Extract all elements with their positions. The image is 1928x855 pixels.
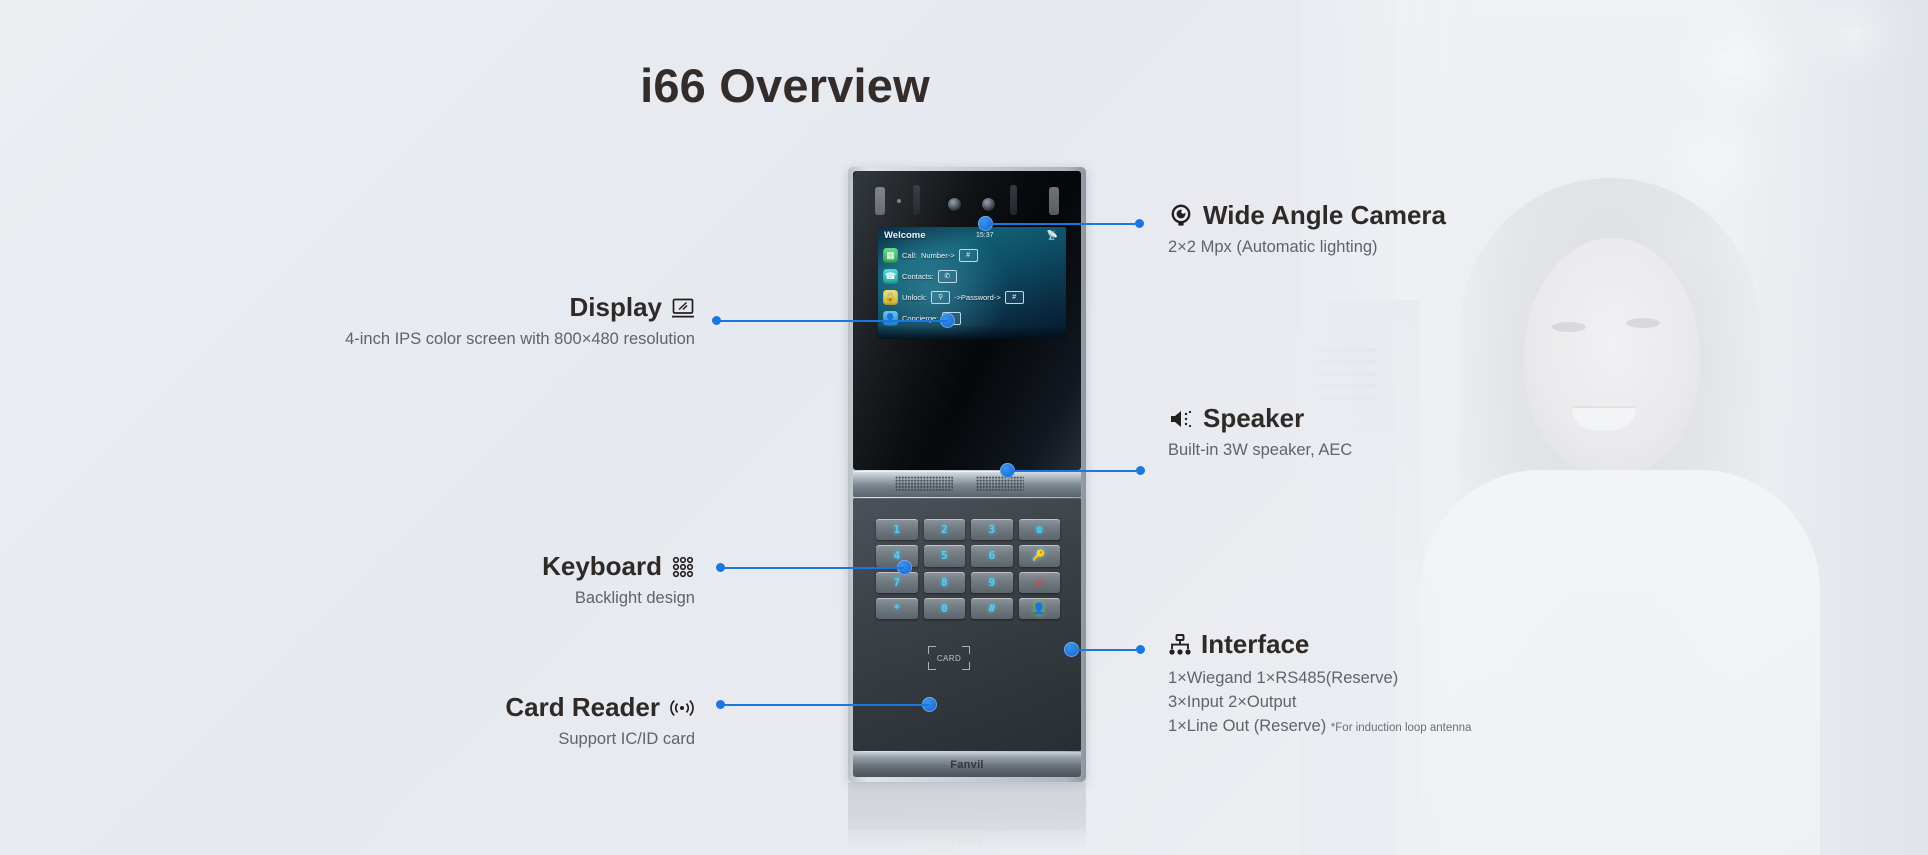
screen-row-label: Contacts: [902,272,934,281]
callout-title: Keyboard [542,551,662,582]
connector-keyboard [722,567,904,569]
sensor-bar [853,177,1081,223]
screen-time: 15:37 [976,232,994,239]
callout-title: Card Reader [505,692,660,723]
device-lower-body: 1 2 3 ☎ 4 5 6 🔑 7 8 9 ↩ * 0 # 👤 CARD [853,498,1081,751]
page-title: i66 Overview [0,58,1570,113]
screen-row-contacts: ☎ Contacts: ✆ [883,266,957,286]
keypad-key-concierge-icon[interactable]: 👤 [1019,598,1061,619]
screen-key-phone: ✆ [938,270,957,283]
callout-subtitle: 2×2 Mpx (Automatic lighting) [1168,238,1446,257]
device-reflection: Fanvil [848,782,1086,855]
dialpad-icon: ▦ [883,248,898,263]
callout-subtitle: Built-in 3W speaker, AEC [1168,441,1352,460]
callout-title: Wide Angle Camera [1203,200,1446,231]
callout-subtitle: Support IC/ID card [180,730,695,749]
endpoint-dot-keyboard [716,563,725,572]
connector-speaker [1012,470,1136,472]
speaker-band [853,471,1081,497]
interface-spec-line: 1×Wiegand 1×RS485(Reserve) [1168,667,1471,691]
keypad-key-hash[interactable]: # [971,598,1013,619]
screen-key-search: ⚲ [931,291,950,304]
camera-icon [1168,203,1194,229]
screen-key-hash: # [959,249,978,262]
endpoint-dot-card-reader [716,700,725,709]
screen-welcome: Welcome [884,230,926,241]
callout-interface: Interface 1×Wiegand 1×RS485(Reserve) 3×I… [1168,629,1471,739]
callout-card-reader: Card Reader Support IC/ID card [180,692,695,749]
speaker-icon [1168,407,1194,431]
callout-camera: Wide Angle Camera 2×2 Mpx (Automatic lig… [1168,200,1446,257]
connector-card-reader [722,704,929,706]
callout-title: Speaker [1203,403,1304,434]
keypad-grid-icon [671,555,695,579]
endpoint-dot-interface [1136,645,1145,654]
keypad-key-2[interactable]: 2 [924,519,966,540]
screen-row-unlock: 🔒 Unlock: ⚲ ->Password-> # [883,287,1024,307]
keypad-key-star[interactable]: * [876,598,918,619]
screen-row-value: ->Password-> [954,293,1001,302]
keypad-key-1[interactable]: 1 [876,519,918,540]
camera-lens [982,198,995,211]
keypad-key-5[interactable]: 5 [924,545,966,566]
interface-lineout-label: 1×Line Out (Reserve) [1168,717,1326,735]
interface-icon [1168,633,1192,657]
endpoint-dot-camera [1135,219,1144,228]
endpoint-dot-speaker [1136,466,1145,475]
monitor-icon [671,297,695,319]
lock-icon: 🔒 [883,290,898,305]
screen-row-call: ▦ Call: Number-> # [883,245,978,265]
callout-display: Display 4-inch IPS color screen with 800… [160,292,695,349]
screen-row-value: Number-> [921,251,955,260]
card-zone-label: CARD [928,646,970,670]
network-icon: 📡 [1047,230,1058,241]
keypad-key-0[interactable]: 0 [924,598,966,619]
screen-key-hash: # [1005,291,1024,304]
keypad-key-6[interactable]: 6 [971,545,1013,566]
user-icon: 👤 [883,311,898,326]
screen-row-label: Unlock: [902,293,927,302]
device-foot-band: Fanvil [853,752,1081,777]
connector-camera [990,223,1135,225]
keypad-key-hangup-icon[interactable]: ↩ [1019,572,1061,593]
interface-footnote: *For induction loop antenna [1331,722,1472,734]
screen-row-label: Call: [902,251,917,260]
keypad-key-unlock-icon[interactable]: 🔑 [1019,545,1061,566]
rfid-wave-icon [669,698,695,718]
card-reader-zone: CARD [928,646,970,670]
callout-speaker: Speaker Built-in 3W speaker, AEC [1168,403,1352,460]
connector-interface [1076,649,1136,651]
overview-canvas: i66 Overview Welcome 15:37 📡 [0,0,1928,855]
reflection-brand: Fanvil [848,830,1086,855]
callout-subtitle: 4-inch IPS color screen with 800×480 res… [160,330,695,349]
phone-icon: ☎ [883,269,898,284]
device-i66: Welcome 15:37 📡 ▦ Call: Number-> # ☎ Con… [848,167,1086,782]
callout-subtitle: Backlight design [180,589,695,608]
callout-keyboard: Keyboard Backlight design [180,551,695,608]
connector-display [718,320,948,322]
speaker-grille-right [976,476,1024,491]
device-screen: Welcome 15:37 📡 ▦ Call: Number-> # ☎ Con… [878,227,1066,339]
callout-title: Display [570,292,663,323]
keypad-key-7[interactable]: 7 [876,572,918,593]
callout-title: Interface [1201,629,1309,660]
interface-spec-line-last: 1×Line Out (Reserve) *For induction loop… [1168,715,1471,739]
keypad-key-9[interactable]: 9 [971,572,1013,593]
keypad-key-3[interactable]: 3 [971,519,1013,540]
keypad-key-call-icon[interactable]: ☎ [1019,519,1061,540]
device-brand-label: Fanvil [950,759,984,771]
keypad-key-8[interactable]: 8 [924,572,966,593]
light-sensor-icon [948,198,961,211]
interface-spec-line: 3×Input 2×Output [1168,691,1471,715]
endpoint-dot-display [712,316,721,325]
speaker-grille-left [895,476,953,491]
